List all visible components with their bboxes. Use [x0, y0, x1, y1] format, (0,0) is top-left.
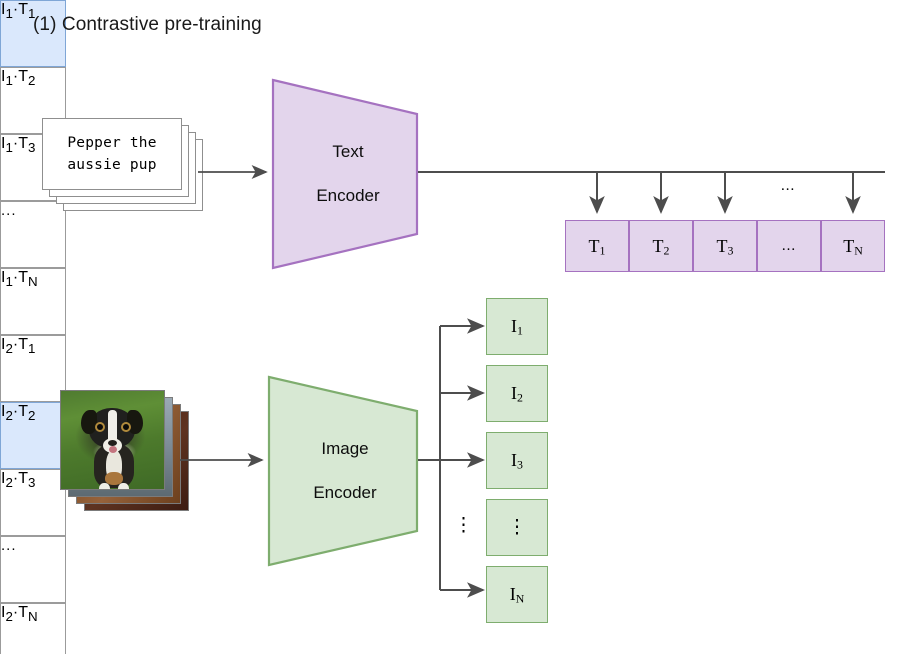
- image-embedding-cell-2[interactable]: I2: [486, 365, 548, 422]
- matrix-cell-2-5-label: I2·TN: [1, 604, 38, 621]
- text-encoder-line1: Text: [316, 141, 379, 163]
- text-encoder-line2: Encoder: [316, 185, 379, 207]
- image-embedding-cell-3[interactable]: I3: [486, 432, 548, 489]
- image-embedding-cell-2-label: I2: [511, 383, 523, 404]
- matrix-cell-1-1-label: I1·T1: [1, 1, 35, 18]
- matrix-cell-2-3[interactable]: I2·T3: [0, 469, 66, 536]
- matrix-cell-2-1[interactable]: I2·T1: [0, 335, 66, 402]
- image-card-front: [60, 390, 165, 490]
- text-embedding-cell-2[interactable]: T2: [629, 220, 693, 272]
- matrix-cell-2-4[interactable]: ...: [0, 536, 66, 603]
- text-embedding-cell-n[interactable]: TN: [821, 220, 885, 272]
- image-encoder-label: Image Encoder: [313, 416, 376, 526]
- image-embedding-cell-vdots[interactable]: ⋮: [486, 499, 548, 556]
- text-embedding-cell-ellipsis[interactable]: ...: [757, 220, 821, 272]
- image-encoder[interactable]: Image Encoder: [267, 375, 419, 567]
- matrix-cell-1-5-label: I1·TN: [1, 269, 38, 286]
- text-embedding-cell-3[interactable]: T3: [693, 220, 757, 272]
- diagram-canvas: (1) Contrastive pre-training Pepper the …: [0, 0, 906, 654]
- text-embedding-cell-3-label: T3: [717, 236, 734, 257]
- similarity-matrix: I1·T1I1·T2I1·T3...I1·TNI2·T1I2·T2I2·T3..…: [0, 0, 906, 654]
- text-encoder-label: Text Encoder: [316, 119, 379, 229]
- text-card-line2: aussie pup: [67, 157, 156, 173]
- image-embedding-cell-1[interactable]: I1: [486, 298, 548, 355]
- image-branch-vdots: ⋮: [454, 514, 473, 537]
- matrix-cell-1-3-label: I1·T3: [1, 135, 35, 152]
- text-embedding-cell-1-label: T1: [589, 236, 606, 257]
- image-embedding-cell-1-label: I1: [511, 316, 523, 337]
- matrix-cell-2-5[interactable]: I2·TN: [0, 603, 66, 654]
- page-title: (1) Contrastive pre-training: [33, 14, 262, 36]
- image-embedding-cell-n[interactable]: IN: [486, 566, 548, 623]
- matrix-cell-2-2-label: I2·T2: [1, 403, 35, 420]
- matrix-cell-1-5[interactable]: I1·TN: [0, 268, 66, 335]
- matrix-cell-2-4-label: ...: [1, 537, 17, 554]
- matrix-cell-2-2[interactable]: I2·T2: [0, 402, 66, 469]
- matrix-cell-2-3-label: I2·T3: [1, 470, 35, 487]
- matrix-cell-1-4-label: ...: [1, 202, 17, 219]
- matrix-cell-1-2-label: I1·T2: [1, 68, 35, 85]
- text-card-content: Pepper the aussie pup: [67, 132, 156, 176]
- image-embedding-cell-3-label: I3: [511, 450, 523, 471]
- text-card-front: Pepper the aussie pup: [42, 118, 182, 190]
- image-embedding-cell-vdots-label: ⋮: [508, 516, 527, 539]
- image-encoder-line2: Encoder: [313, 482, 376, 504]
- text-embedding-cell-n-label: TN: [843, 236, 863, 257]
- text-card-line1: Pepper the: [67, 135, 156, 151]
- matrix-cell-1-4[interactable]: ...: [0, 201, 66, 268]
- text-encoder[interactable]: Text Encoder: [271, 78, 419, 270]
- text-embedding-ellipsis: ...: [781, 178, 795, 195]
- text-embedding-cell-ellipsis-label: ...: [782, 238, 796, 255]
- matrix-cell-2-1-label: I2·T1: [1, 336, 35, 353]
- image-embedding-cell-n-label: IN: [510, 584, 525, 605]
- text-embedding-cell-1[interactable]: T1: [565, 220, 629, 272]
- text-embedding-cell-2-label: T2: [653, 236, 670, 257]
- image-encoder-line1: Image: [313, 438, 376, 460]
